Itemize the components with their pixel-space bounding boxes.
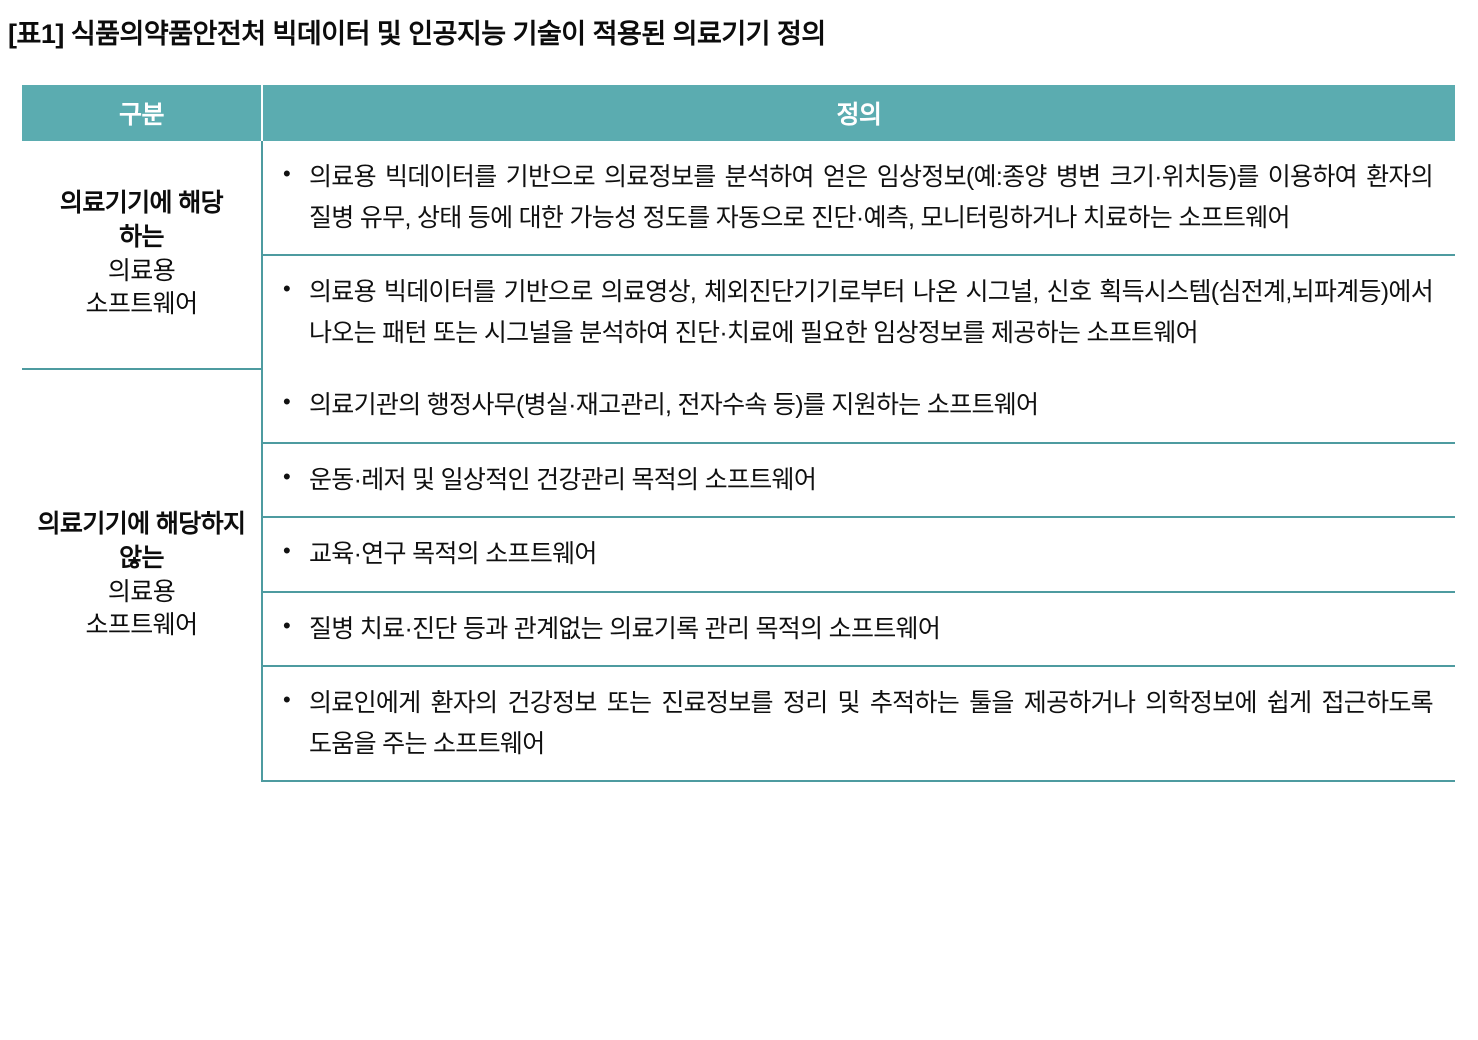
definition-cell: 교육·연구 목적의 소프트웨어	[262, 517, 1455, 592]
column-header-category: 구분	[22, 85, 262, 141]
group-label-light-line1: 의료용	[30, 576, 253, 610]
document-page: [표1] 식품의약품안전처 빅데이터 및 인공지능 기술이 적용된 의료기기 정…	[0, 0, 1478, 1040]
group-label-bold-line2: 하는	[30, 221, 253, 255]
group-label-light-line1: 의료용	[30, 255, 253, 289]
definition-bullet: 운동·레저 및 일상적인 건강관리 목적의 소프트웨어	[281, 460, 1433, 501]
definition-cell: 의료기관의 행정사무(병실·재고관리, 전자수속 등)를 지원하는 소프트웨어	[262, 369, 1455, 443]
table-body: 의료기기에 해당 하는 의료용 소프트웨어 의료용 빅데이터를 기반으로 의료정…	[22, 141, 1455, 781]
definition-cell: 의료용 빅데이터를 기반으로 의료정보를 분석하여 얻은 임상정보(예:종양 병…	[262, 141, 1455, 255]
definition-cell: 질병 치료·진단 등과 관계없는 의료기록 관리 목적의 소프트웨어	[262, 592, 1455, 667]
column-header-definition: 정의	[262, 85, 1455, 141]
group-label-medical-device-not-applicable: 의료기기에 해당하지 않는 의료용 소프트웨어	[22, 369, 262, 781]
definition-bullet: 의료용 빅데이터를 기반으로 의료영상, 체외진단기기로부터 나온 시그널, 신…	[281, 272, 1433, 353]
table-row: 의료기기에 해당하지 않는 의료용 소프트웨어 의료기관의 행정사무(병실·재고…	[22, 369, 1455, 443]
definition-bullet: 의료인에게 환자의 건강정보 또는 진료정보를 정리 및 추적하는 툴을 제공하…	[281, 683, 1433, 764]
group-label-bold-line1: 의료기기에 해당	[30, 187, 253, 221]
definition-cell: 의료용 빅데이터를 기반으로 의료영상, 체외진단기기로부터 나온 시그널, 신…	[262, 255, 1455, 369]
table-row: 의료기기에 해당 하는 의료용 소프트웨어 의료용 빅데이터를 기반으로 의료정…	[22, 141, 1455, 255]
definition-cell: 의료인에게 환자의 건강정보 또는 진료정보를 정리 및 추적하는 툴을 제공하…	[262, 666, 1455, 781]
definition-table: 구분 정의 의료기기에 해당 하는 의료용 소프트웨어 의료용 빅데이터를 기반…	[22, 85, 1455, 782]
definition-bullet: 의료기관의 행정사무(병실·재고관리, 전자수속 등)를 지원하는 소프트웨어	[281, 385, 1433, 426]
table-caption: [표1] 식품의약품안전처 빅데이터 및 인공지능 기술이 적용된 의료기기 정…	[8, 12, 826, 51]
group-label-light-line2: 소프트웨어	[30, 288, 253, 322]
definition-cell: 운동·레저 및 일상적인 건강관리 목적의 소프트웨어	[262, 443, 1455, 518]
table-head: 구분 정의	[22, 85, 1455, 141]
definition-bullet: 질병 치료·진단 등과 관계없는 의료기록 관리 목적의 소프트웨어	[281, 609, 1433, 650]
definition-bullet: 교육·연구 목적의 소프트웨어	[281, 534, 1433, 575]
group-label-light-line2: 소프트웨어	[30, 609, 253, 643]
group-label-bold: 의료기기에 해당하지 않는	[30, 508, 253, 576]
group-label-medical-device-applicable: 의료기기에 해당 하는 의료용 소프트웨어	[22, 141, 262, 369]
definition-bullet: 의료용 빅데이터를 기반으로 의료정보를 분석하여 얻은 임상정보(예:종양 병…	[281, 157, 1433, 238]
header-row: 구분 정의	[22, 85, 1455, 141]
